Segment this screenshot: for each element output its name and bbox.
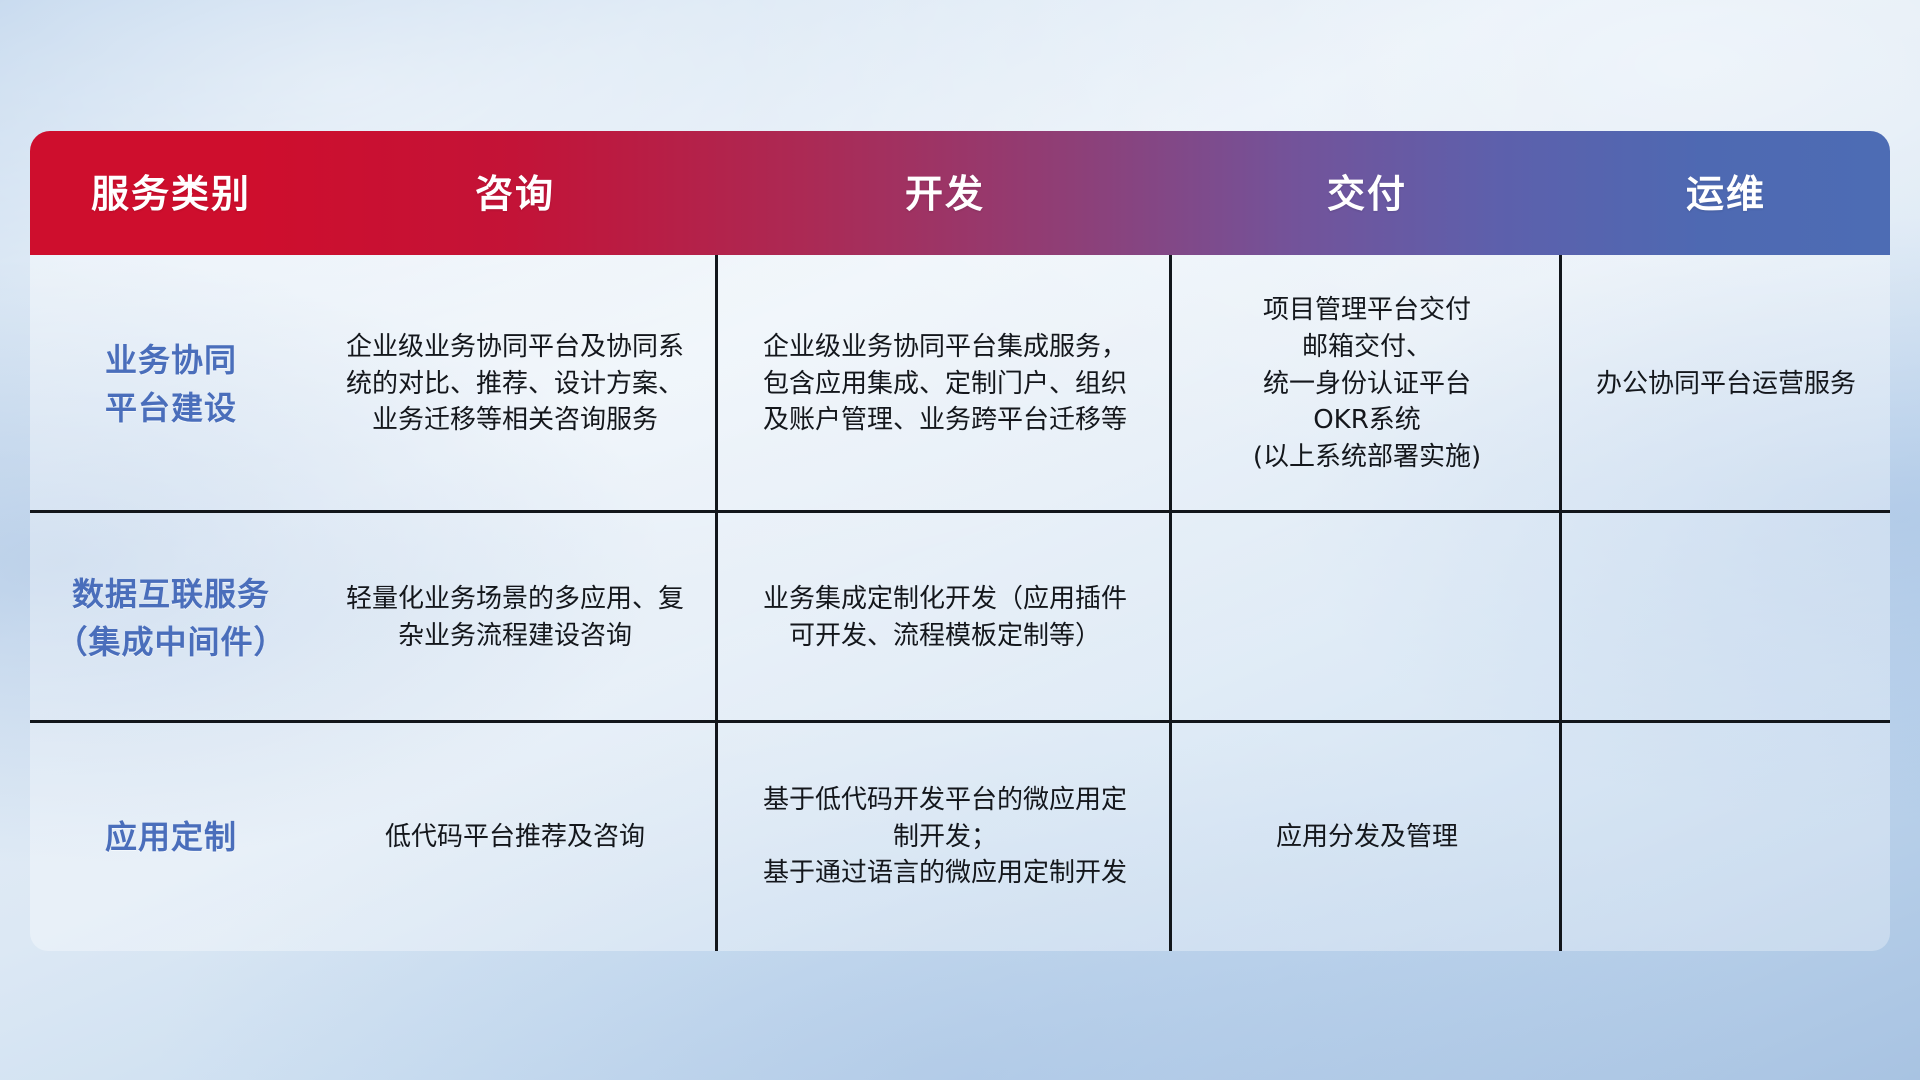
row-category-label: 业务协同 平台建设	[105, 336, 237, 432]
cell-text: 应用分发及管理	[1276, 819, 1458, 856]
table-row: 应用定制 低代码平台推荐及咨询 基于低代码开发平台的微应用定 制开发； 基于通过…	[30, 723, 1890, 951]
cell-text: 项目管理平台交付 邮箱交付、 统一身份认证平台 OKR系统 (以上系统部署实施)	[1253, 292, 1481, 477]
cell-operations	[1562, 723, 1890, 951]
row-category-cell: 数据互联服务 （集成中间件）	[30, 513, 312, 723]
cell-delivery: 应用分发及管理	[1172, 723, 1562, 951]
row-category-label: 数据互联服务 （集成中间件）	[55, 570, 286, 666]
table-header-cell-category: 服务类别	[30, 131, 312, 255]
cell-delivery	[1172, 513, 1562, 723]
table-header-cell-delivery: 交付	[1172, 131, 1562, 255]
cell-text: 企业级业务协同平台集成服务， 包含应用集成、定制门户、组织 及账户管理、业务跨平…	[763, 329, 1127, 440]
table-row: 业务协同 平台建设 企业级业务协同平台及协同系 统的对比、推荐、设计方案、 业务…	[30, 255, 1890, 513]
cell-development: 基于低代码开发平台的微应用定 制开发； 基于通过语言的微应用定制开发	[718, 723, 1172, 951]
cell-text: 轻量化业务场景的多应用、复 杂业务流程建设咨询	[346, 581, 684, 655]
header-label-development: 开发	[905, 163, 985, 218]
header-label-delivery: 交付	[1327, 163, 1407, 218]
table-header-row: 服务类别 咨询 开发 交付 运维	[30, 131, 1890, 255]
cell-text: 低代码平台推荐及咨询	[385, 819, 645, 856]
cell-text: 业务集成定制化开发（应用插件 可开发、流程模板定制等）	[763, 581, 1127, 655]
table-row: 数据互联服务 （集成中间件） 轻量化业务场景的多应用、复 杂业务流程建设咨询 业…	[30, 513, 1890, 723]
header-label-category: 服务类别	[91, 163, 251, 218]
table-body-grid: 业务协同 平台建设 企业级业务协同平台及协同系 统的对比、推荐、设计方案、 业务…	[30, 255, 1890, 951]
table-header-cell-operations: 运维	[1562, 131, 1890, 255]
table-header-cell-development: 开发	[718, 131, 1172, 255]
cell-development: 业务集成定制化开发（应用插件 可开发、流程模板定制等）	[718, 513, 1172, 723]
header-label-operations: 运维	[1686, 163, 1766, 218]
row-category-cell: 应用定制	[30, 723, 312, 951]
cell-text: 企业级业务协同平台及协同系 统的对比、推荐、设计方案、 业务迁移等相关咨询服务	[346, 329, 684, 440]
row-category-cell: 业务协同 平台建设	[30, 255, 312, 513]
cell-operations	[1562, 513, 1890, 723]
service-matrix-table: 服务类别 咨询 开发 交付 运维 业务协同 平台建设 企业级业务协同平台及协同系…	[30, 131, 1890, 951]
cell-delivery: 项目管理平台交付 邮箱交付、 统一身份认证平台 OKR系统 (以上系统部署实施)	[1172, 255, 1562, 513]
cell-operations: 办公协同平台运营服务	[1562, 255, 1890, 513]
table-header-cell-consulting: 咨询	[312, 131, 718, 255]
header-label-consulting: 咨询	[475, 163, 555, 218]
cell-development: 企业级业务协同平台集成服务， 包含应用集成、定制门户、组织 及账户管理、业务跨平…	[718, 255, 1172, 513]
cell-text: 办公协同平台运营服务	[1596, 366, 1856, 403]
cell-text: 基于低代码开发平台的微应用定 制开发； 基于通过语言的微应用定制开发	[763, 782, 1127, 893]
row-category-label: 应用定制	[105, 813, 237, 861]
cell-consulting: 轻量化业务场景的多应用、复 杂业务流程建设咨询	[312, 513, 718, 723]
cell-consulting: 低代码平台推荐及咨询	[312, 723, 718, 951]
cell-consulting: 企业级业务协同平台及协同系 统的对比、推荐、设计方案、 业务迁移等相关咨询服务	[312, 255, 718, 513]
